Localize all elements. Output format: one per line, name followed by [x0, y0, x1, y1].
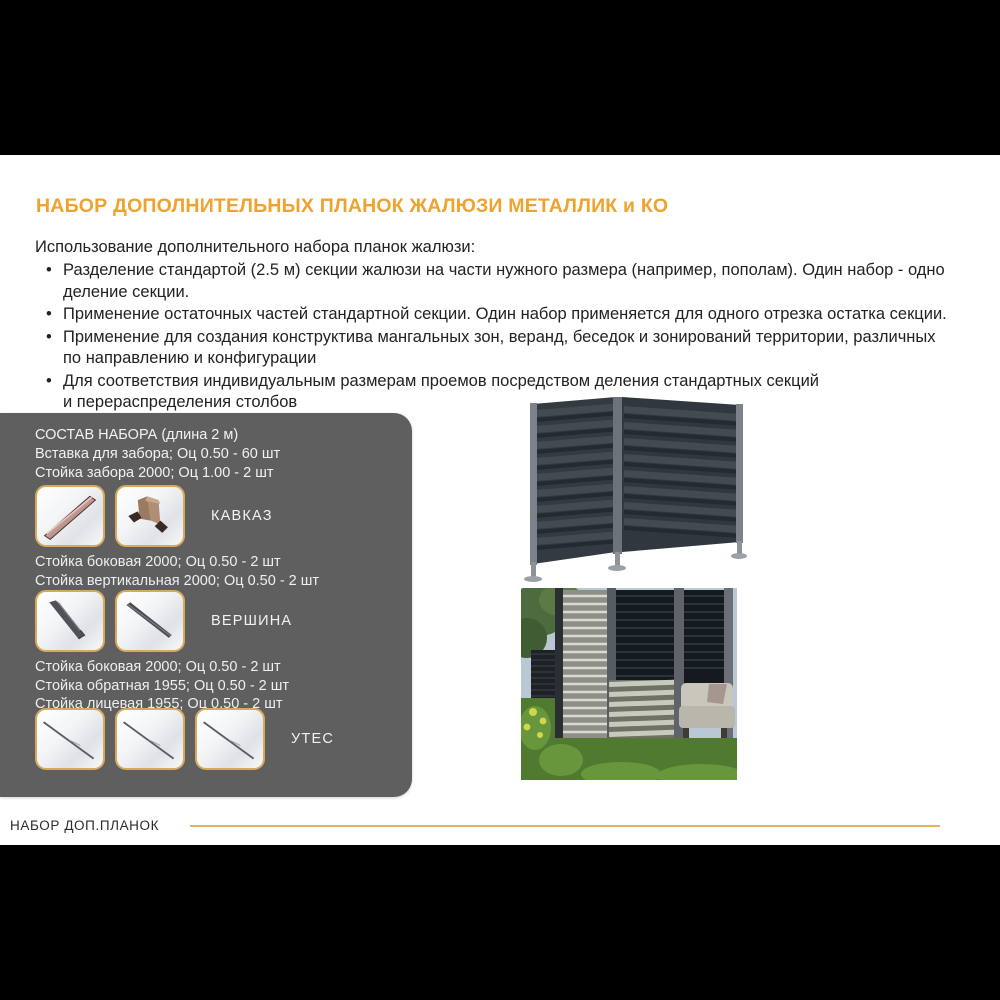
bullet-line: Для соответствия индивидуальным размерам…: [63, 371, 975, 393]
profile-angle-icon: [35, 590, 105, 652]
product-group-utes: УТЕС: [35, 708, 334, 770]
tile-row: УТЕС: [35, 708, 334, 770]
letterbox-bottom: [0, 845, 1000, 1000]
letterbox-top: [0, 0, 1000, 155]
product-group-vershina: ВЕРШИНА Стойка боковая 2000; Оц 0.50 - 2…: [35, 590, 292, 714]
list-item: • Разделение стандартой (2.5 м) секции ж…: [35, 260, 975, 303]
list-item: • Применение остаточных частей стандартн…: [35, 304, 975, 326]
woven-louver-fence-photo: [500, 392, 770, 582]
product-group-lines: Стойка боковая 2000; Оц 0.50 - 2 шт Стой…: [35, 658, 292, 714]
bullet-marker: •: [46, 327, 52, 349]
spec-line: Стойка боковая 2000; Оц 0.50 - 2 шт: [35, 658, 292, 677]
bullet-line: Разделение стандартой (2.5 м) секции жал…: [63, 260, 975, 282]
bullet-line: Применение остаточных частей стандартной…: [63, 304, 975, 326]
intro-text: Использование дополнительного набора пла…: [35, 238, 475, 257]
bullet-line: деление секции.: [63, 282, 975, 304]
footer-divider: [190, 825, 940, 827]
profile-bar-icon: [35, 485, 105, 547]
product-group-label: ВЕРШИНА: [211, 613, 292, 629]
set-composition-panel: СОСТАВ НАБОРА (длина 2 м) Вставка для за…: [0, 413, 412, 797]
louver-screen-terrace-photo: [521, 588, 737, 938]
set-composition-title: СОСТАВ НАБОРА (длина 2 м): [35, 426, 280, 445]
bullet-marker: •: [46, 371, 52, 393]
profile-bracket-icon: [115, 485, 185, 547]
product-group-kavkaz: КАВКАЗ Стойка боковая 2000; Оц 0.50 - 2 …: [35, 485, 319, 590]
list-item: • Применение для создания конструктива м…: [35, 327, 975, 370]
bullet-line: по направлению и конфигурации: [63, 348, 975, 370]
bullet-marker: •: [46, 304, 52, 326]
footer-label: НАБОР ДОП.ПЛАНОК: [10, 818, 159, 833]
page-title: НАБОР ДОПОЛНИТЕЛЬНЫХ ПЛАНОК ЖАЛЮЗИ МЕТАЛ…: [36, 195, 668, 218]
set-composition-line: Стойка забора 2000; Оц 1.00 - 2 шт: [35, 464, 280, 483]
photo-frame: [521, 588, 737, 780]
profile-thin-rod-icon: [195, 708, 265, 770]
spec-line: Стойка обратная 1955; Оц 0.50 - 2 шт: [35, 677, 292, 696]
slide-canvas: НАБОР ДОПОЛНИТЕЛЬНЫХ ПЛАНОК ЖАЛЮЗИ МЕТАЛ…: [0, 155, 1000, 845]
spec-line: Стойка боковая 2000; Оц 0.50 - 2 шт: [35, 553, 319, 572]
tile-row: ВЕРШИНА: [35, 590, 292, 652]
profile-slat-icon: [115, 590, 185, 652]
profile-thin-rod-icon: [35, 708, 105, 770]
bullet-marker: •: [46, 260, 52, 282]
bullet-line: Применение для создания конструктива ман…: [63, 327, 975, 349]
product-group-label: КАВКАЗ: [211, 508, 273, 524]
tile-row: КАВКАЗ: [35, 485, 319, 547]
product-group-lines: Стойка боковая 2000; Оц 0.50 - 2 шт Стой…: [35, 553, 319, 590]
product-group-label: УТЕС: [291, 731, 334, 747]
slide-stage: НАБОР ДОПОЛНИТЕЛЬНЫХ ПЛАНОК ЖАЛЮЗИ МЕТАЛ…: [0, 0, 1000, 1000]
spec-line: Стойка вертикальная 2000; Оц 0.50 - 2 шт: [35, 572, 319, 591]
profile-thin-rod-icon: [115, 708, 185, 770]
set-composition-line: Вставка для забора; Оц 0.50 - 60 шт: [35, 445, 280, 464]
set-composition-header: СОСТАВ НАБОРА (длина 2 м) Вставка для за…: [35, 426, 280, 483]
